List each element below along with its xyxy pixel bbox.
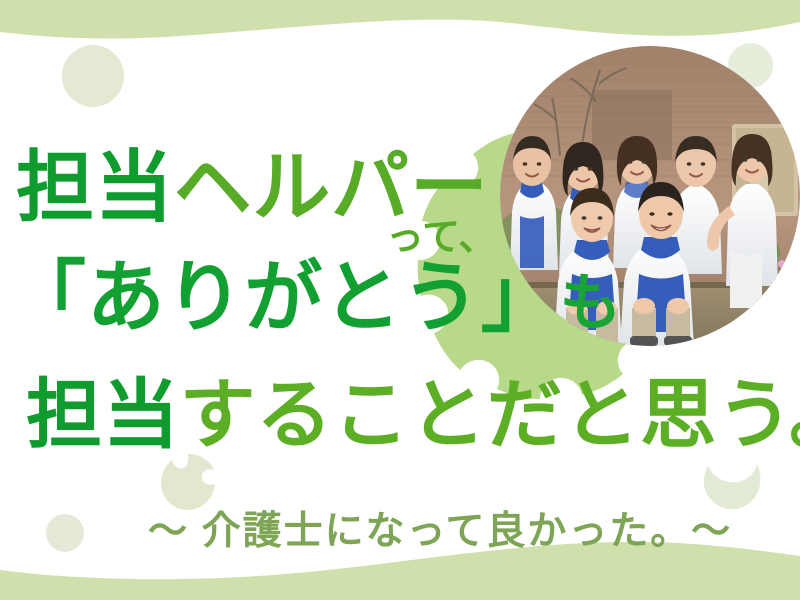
headline-1-dark: 担当 — [16, 143, 174, 231]
poster-canvas: 担当ヘルパー って、 「ありがとう」も 担当することだと思う。 〜 介護士になっ… — [0, 0, 800, 600]
decor-circle-top-left — [62, 45, 124, 107]
headline-line-3: 担当することだと思う。 — [26, 378, 800, 454]
headline-2-particle: も — [559, 269, 622, 338]
headline-2-quote-open: 「 — [8, 253, 87, 341]
decor-circle-left-lower — [46, 514, 84, 552]
top-wave-band — [0, 0, 800, 56]
headline-2-text: ありがとう — [87, 253, 481, 341]
headline-3-dark: 担当 — [26, 373, 180, 458]
headline-2-quote-close: 」 — [481, 253, 560, 341]
headline-line-2: 「ありがとう」も — [8, 258, 622, 336]
headline-3-mid: することだと思う。 — [180, 373, 800, 458]
poster-tagline: 〜 介護士になって良かった。〜 — [148, 500, 732, 556]
